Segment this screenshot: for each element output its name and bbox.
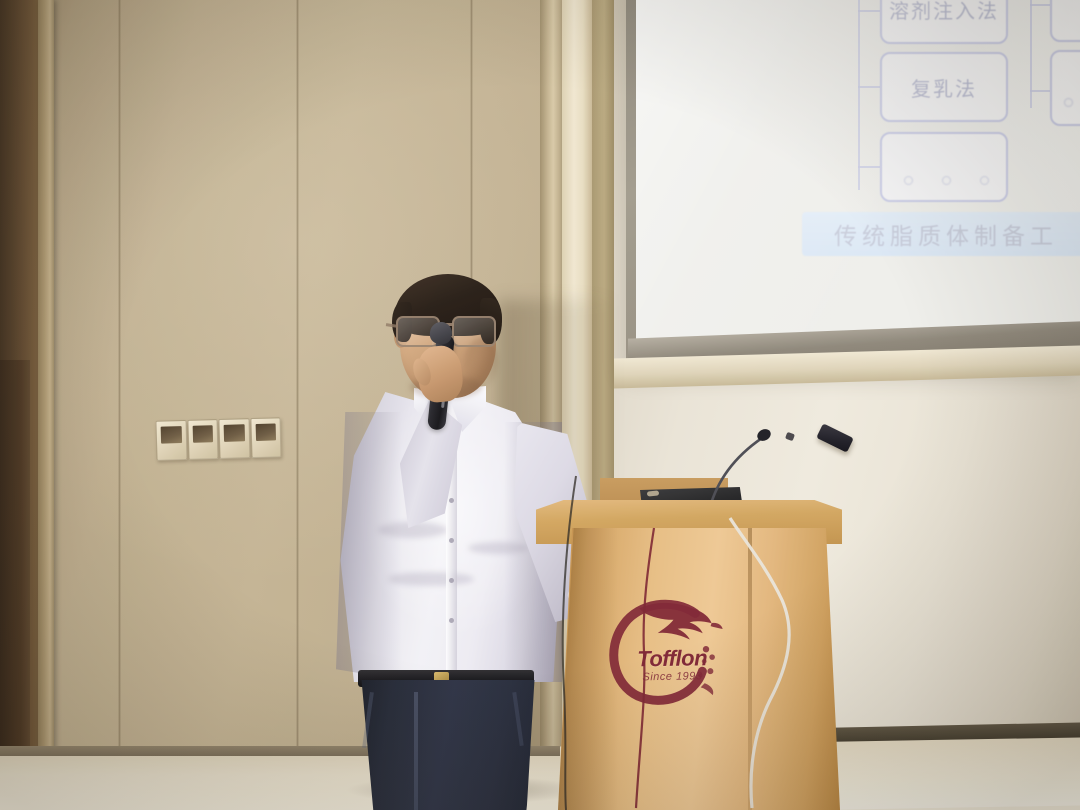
projection-screen: 溶剂注入法 复乳法 薄膜 分散 传统脂质体制备工	[636, 0, 1080, 348]
presentation-photograph: 溶剂注入法 复乳法 薄膜 分散 传统脂质体制备工	[0, 0, 1080, 810]
switch-rocker-icon	[224, 424, 245, 442]
bullet-dot-icon	[1064, 98, 1073, 107]
flow-connector	[1030, 4, 1050, 6]
switch-rocker-icon	[255, 423, 276, 441]
wall-seam	[296, 0, 299, 810]
shirt-button	[449, 618, 454, 623]
flow-box-right-upper: 薄膜 分散	[1050, 0, 1080, 42]
slide-banner-text: 传统脂质体制备工	[802, 217, 1058, 251]
shirt-shading-left	[336, 412, 402, 680]
dark-door-shadow	[0, 360, 30, 810]
trouser-crease	[414, 692, 418, 810]
flow-connector	[858, 86, 880, 88]
light-switch-1[interactable]	[155, 420, 187, 461]
shirt-fold	[388, 572, 474, 586]
flow-box-solvent-injection: 溶剂注入法	[880, 0, 1008, 44]
light-switch-2[interactable]	[187, 419, 219, 460]
shirt-button	[449, 538, 454, 543]
slide-content: 溶剂注入法 复乳法 薄膜 分散 传统脂质体制备工	[636, 0, 1080, 348]
light-switch-panel[interactable]	[155, 417, 282, 461]
light-switch-3[interactable]	[218, 418, 250, 459]
flow-connector	[1030, 90, 1050, 92]
flow-box-right-lower	[1050, 50, 1080, 126]
bullet-dot-icon	[904, 176, 913, 185]
door-frame-edge	[38, 0, 54, 810]
wall-seam	[118, 0, 121, 810]
slide-banner: 传统脂质体制备工	[802, 212, 1080, 256]
shirt-button	[449, 578, 454, 583]
flow-connector-spine	[858, 0, 860, 190]
cables	[530, 470, 860, 810]
flow-connector	[858, 10, 880, 12]
flow-box-bullets	[880, 132, 1008, 202]
bullet-dot-icon	[980, 176, 989, 185]
shirt-button	[449, 498, 454, 503]
switch-rocker-icon	[192, 425, 213, 443]
light-switch-4[interactable]	[250, 417, 282, 458]
shirt-fold	[468, 542, 528, 554]
flow-connector	[858, 166, 880, 168]
eyeglass-lens-right	[452, 316, 496, 347]
flow-box-double-emulsion: 复乳法	[880, 52, 1008, 122]
bullet-dot-icon	[942, 176, 951, 185]
eyeglass-temple	[386, 323, 398, 327]
switch-rocker-icon	[161, 426, 182, 444]
